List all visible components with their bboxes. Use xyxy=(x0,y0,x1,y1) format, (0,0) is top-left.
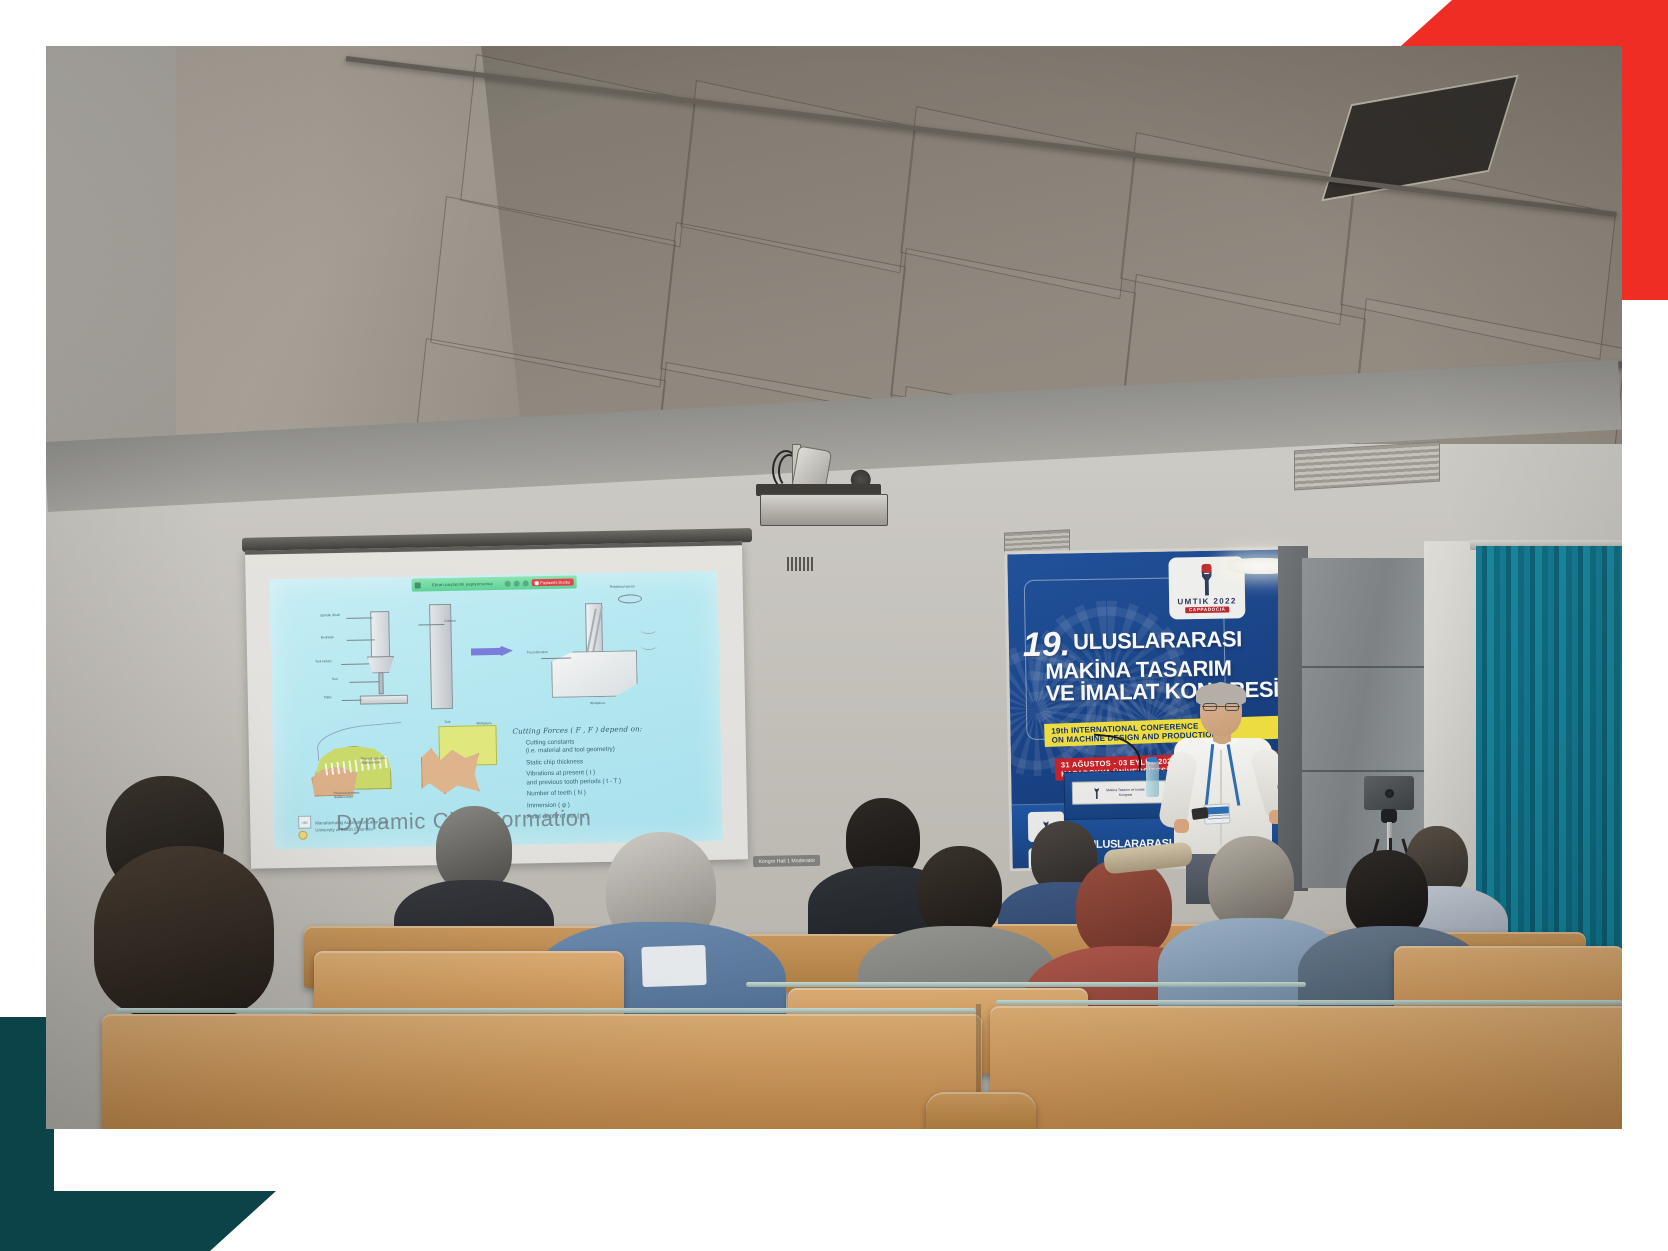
microphone-icon xyxy=(504,580,510,586)
banner-line-1: ULUSLARARASI xyxy=(1073,628,1242,653)
slide-footer: UBC Manufacturing Automation Laboratory … xyxy=(298,814,389,840)
machine-spindle xyxy=(370,611,390,657)
bench-rail xyxy=(996,1000,1622,1005)
presenter-hair xyxy=(1196,683,1246,705)
bench-rail xyxy=(746,982,1306,987)
cut-label: Feed direction xyxy=(527,650,548,654)
stop-icon xyxy=(534,581,538,585)
logo-subtitle: CAPPADOCIA xyxy=(1185,606,1230,613)
chip-label: Previous dynamic displacement xyxy=(334,791,376,800)
wall-left-panel xyxy=(46,46,176,476)
cut-label: Rotational speed xyxy=(610,584,635,588)
audience-head xyxy=(918,846,1002,938)
ubc-seal-icon xyxy=(298,831,307,840)
camera-icon xyxy=(513,580,519,586)
banner-edition-number: 19. xyxy=(1023,631,1071,660)
presenter-left-hand xyxy=(1174,819,1189,833)
cutting-3d-diagram: Rotational speed Feed direction Workpiec… xyxy=(532,588,664,715)
conference-photograph: Ekran paylasimi yapiyorsunuz Paylasimi D… xyxy=(46,46,1622,1129)
podium-plate-line-2: Kongresi xyxy=(1106,792,1144,797)
wrench-icon xyxy=(1199,569,1215,595)
projector-vent xyxy=(787,557,813,571)
projector-body xyxy=(760,494,888,526)
camera-body xyxy=(1364,776,1414,810)
stop-sharing-label: Paylasimi Durdur xyxy=(540,580,571,586)
bench-seat xyxy=(102,1014,982,1129)
cut-label: Workpiece xyxy=(590,701,606,705)
ceiling-projector xyxy=(746,444,891,534)
machine-label: Table xyxy=(324,695,332,699)
machine-label: Tool Holder xyxy=(315,659,332,663)
vibration-cross-section-diagram: Tool Workpiece xyxy=(414,723,512,805)
machine-label: Tool xyxy=(331,677,337,681)
audience-head xyxy=(94,846,274,1018)
cutting-forces-title: Cutting Forces ( F , F ) depend on: xyxy=(512,723,712,736)
list-item: Static chip thickness xyxy=(526,755,713,768)
audience-head xyxy=(1208,836,1294,930)
tripod-head xyxy=(1381,809,1397,823)
name-badge xyxy=(641,945,706,987)
process-arrow-icon xyxy=(471,645,513,658)
share-icon xyxy=(415,582,421,588)
bench-rail xyxy=(116,1008,976,1013)
machine-table xyxy=(360,695,408,705)
machine-schematic-diagram: Spindle Shaft Bearings Tool Holder Tool … xyxy=(326,602,463,720)
chip-thickness-diagram: Present dynamic displacement Previous dy… xyxy=(306,729,399,805)
camera-lens-icon xyxy=(1385,789,1394,798)
leader-line xyxy=(341,663,369,664)
footer-line-2: University of British Columbia xyxy=(315,826,388,834)
share-bar-label: Ekran paylasimi yapiyorsunuz xyxy=(424,581,502,587)
podium-plate-text: Makina Tasarim ve Imalat Kongresi xyxy=(1106,788,1145,798)
audience-head xyxy=(1346,850,1428,938)
leader-line xyxy=(342,700,362,701)
more-icon xyxy=(522,580,528,586)
machine-label: Spindle Shaft xyxy=(320,613,340,617)
chip-label: Workpiece xyxy=(476,721,492,725)
list-item: Number of teeth ( N ) xyxy=(527,787,714,800)
audience-head xyxy=(1076,858,1172,958)
rotation-arrow-icon xyxy=(618,594,642,603)
stop-sharing-button[interactable]: Paylasimi Durdur xyxy=(531,578,574,586)
leader-line xyxy=(350,681,380,682)
machine-tool xyxy=(378,672,383,694)
bench-seat-back xyxy=(926,1092,1036,1129)
logo-name: UMTIK 2022 xyxy=(1177,596,1237,606)
moderator-name-chip: Kongre Hall 1 Moderator xyxy=(753,855,820,867)
presentation-clicker xyxy=(1191,807,1208,820)
presentation-slide: Ekran paylasimi yapiyorsunuz Paylasimi D… xyxy=(270,571,723,850)
screenshot-root: Ekran paylasimi yapiyorsunuz Paylasimi D… xyxy=(0,0,1668,1251)
wrench-top-icon xyxy=(1201,563,1211,572)
wrench-icon xyxy=(1093,787,1100,799)
presenter-shirt-placket xyxy=(1220,750,1222,846)
bench-seat xyxy=(990,1006,1622,1129)
ubc-logo-icon: UBC xyxy=(298,816,311,829)
eyeglasses-icon xyxy=(1202,703,1240,711)
leader-line xyxy=(346,617,372,618)
machine-tool-holder xyxy=(367,656,394,674)
chip-label: Present dynamic displacement xyxy=(361,757,397,766)
machine-label: Bearings xyxy=(321,635,334,639)
machine-label: Column xyxy=(444,619,455,623)
chip-label: Tool xyxy=(444,720,450,724)
